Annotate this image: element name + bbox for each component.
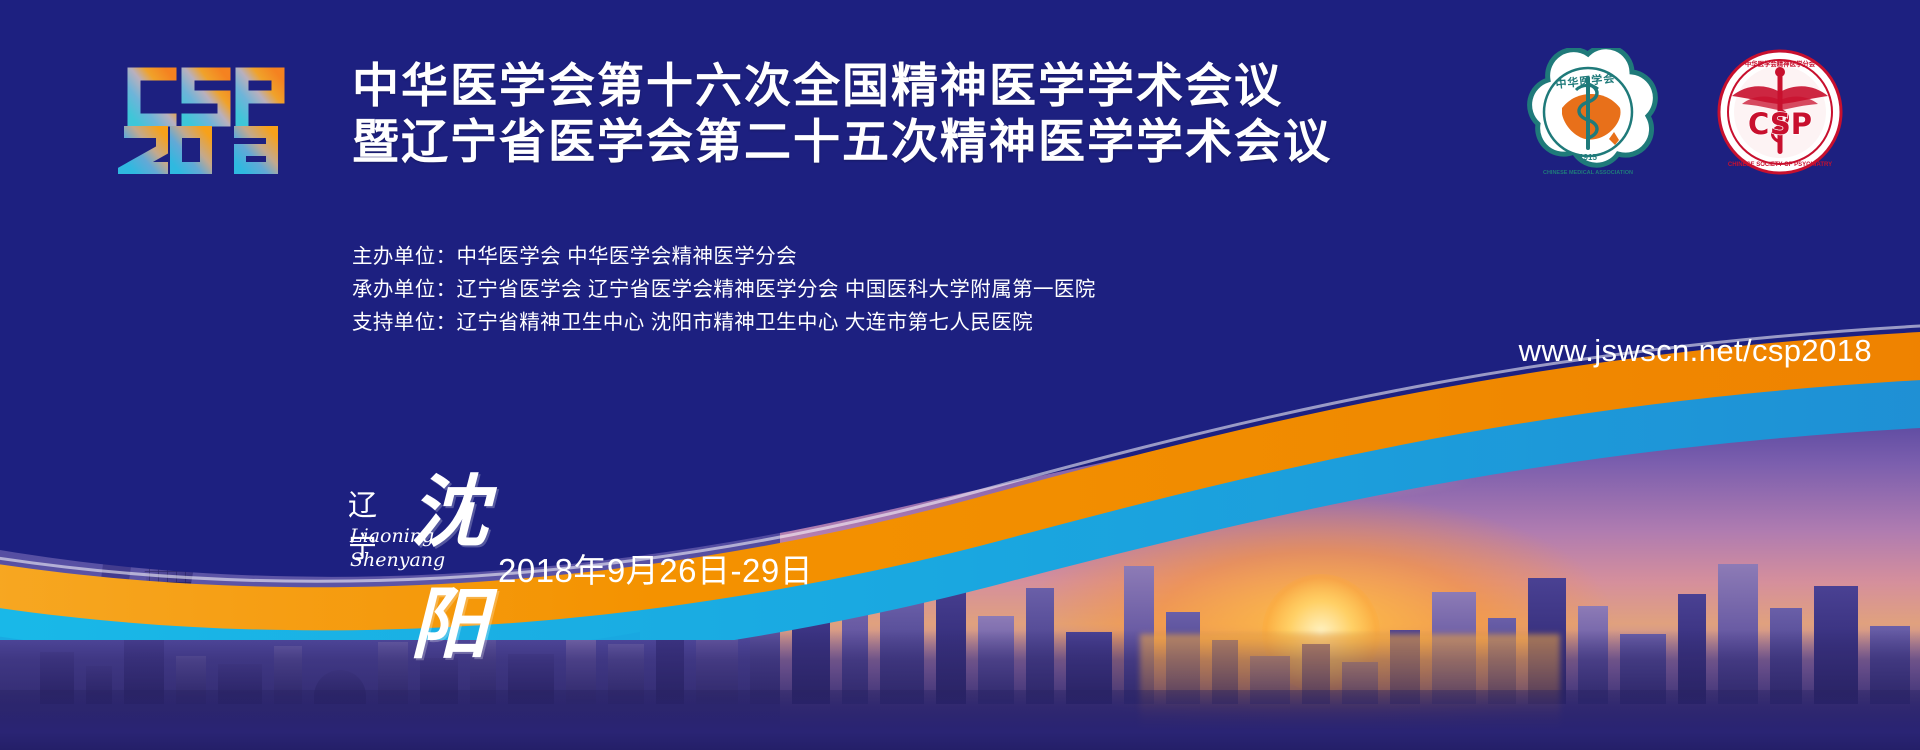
venue-en-province: Liaoning — [350, 524, 445, 548]
csp-society-logo: CSP 中华医学会精神医学分会 CHINESE SOCIETY OF PSYCH… — [1719, 51, 1841, 173]
foreground-shore — [0, 690, 1920, 750]
csp-abbr: CSP — [1748, 107, 1812, 141]
title-line-1: 中华医学会第十六次全国精神医学学术会议 — [352, 58, 1332, 114]
organizer-line-undertaker: 承办单位：辽宁省医学会 辽宁省医学会精神医学分会 中国医科大学附属第一医院 — [352, 273, 1096, 306]
csp-en-name: CHINESE SOCIETY OF PSYCHIATRY — [1728, 162, 1832, 168]
csp-cn-name: 中华医学会精神医学分会 — [1745, 59, 1816, 68]
society-logos: 1915 中华医学会 CHINESE MEDICAL ASSOCIATION C… — [1522, 48, 1882, 176]
website-url[interactable]: www.jswscn.net/csp2018 — [1519, 333, 1872, 369]
cma-logo: 1915 中华医学会 CHINESE MEDICAL ASSOCIATION — [1530, 48, 1656, 176]
venue-en-city: Shenyang — [350, 548, 445, 572]
cma-founded-year: 1915 — [1579, 153, 1597, 162]
title-line-2: 暨辽宁省医学会第二十五次精神医学学术会议 — [352, 114, 1332, 170]
csp-2018-logo: CSP 2018 — [118, 58, 298, 178]
venue-en-names: Liaoning Shenyang — [350, 524, 445, 572]
conference-title: 中华医学会第十六次全国精神医学学术会议 暨辽宁省医学会第二十五次精神医学学术会议 — [352, 58, 1332, 170]
organizer-line-supporter: 支持单位：辽宁省精神卫生中心 沈阳市精神卫生中心 大连市第七人民医院 — [352, 306, 1096, 339]
organizer-line-host: 主办单位：中华医学会 中华医学会精神医学分会 — [352, 240, 1096, 273]
shenyang-landmark-building — [78, 345, 278, 595]
cityscape-background — [0, 330, 1920, 750]
organizer-block: 主办单位：中华医学会 中华医学会精神医学分会 承办单位：辽宁省医学会 辽宁省医学… — [352, 240, 1096, 339]
conference-banner: CSP 2018 中华医学会第十六次全国精神医学学术会议 暨辽宁省医学会第二十五… — [0, 0, 1920, 750]
conference-date: 2018年9月26日-29日 — [498, 544, 813, 592]
cma-en-name: CHINESE MEDICAL ASSOCIATION — [1543, 170, 1633, 176]
